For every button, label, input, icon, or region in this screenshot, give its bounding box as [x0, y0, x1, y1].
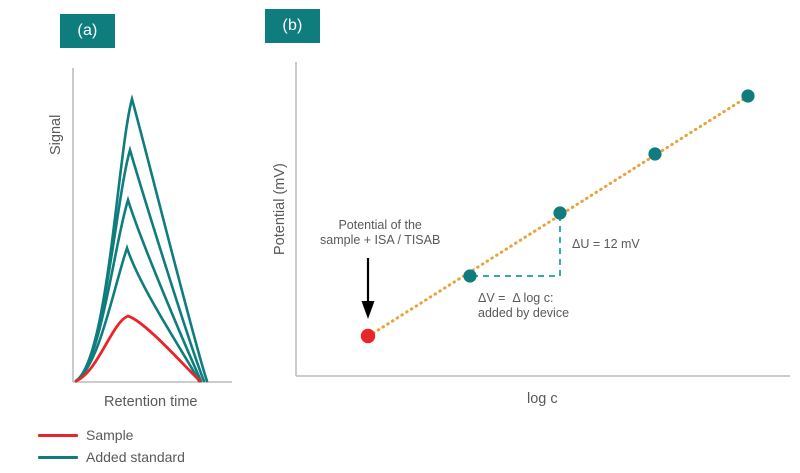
panel-b-point-sample — [361, 329, 375, 343]
panel-b-callout-arrow-icon — [362, 258, 375, 319]
figure-canvas: (a) Signal Retention time Sam — [0, 0, 800, 473]
panel-b-point-addition-1 — [463, 269, 476, 282]
panel-b-point-addition-3 — [648, 147, 661, 160]
panel-b-point-addition-2 — [553, 206, 566, 219]
panel-b-annotation-delta-v: ΔV = Δ log c: added by device — [478, 291, 569, 321]
panel-b-point-addition-4 — [741, 89, 754, 102]
panel-b-annotation-sample-potential: Potential of the sample + ISA / TISAB — [320, 218, 440, 248]
panel-b-annotation-delta-u: ΔU = 12 mV — [572, 237, 640, 252]
